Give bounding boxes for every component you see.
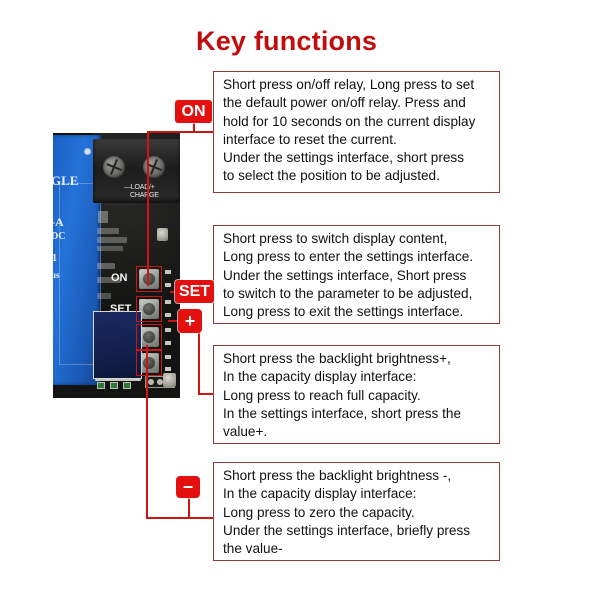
- callout-minus-text: Short press the backlight brightness -, …: [213, 462, 500, 561]
- silk-load-charge: —LOAD/+: [124, 184, 155, 191]
- green-component: [110, 382, 118, 389]
- highlight-plus: [136, 324, 162, 350]
- badge-set[interactable]: SET: [175, 280, 214, 303]
- lcd-display: [93, 311, 142, 379]
- solder-pad: [165, 367, 171, 371]
- green-component: [123, 382, 131, 389]
- capacitor-component: [157, 228, 168, 241]
- terminal-screw-left: [103, 156, 125, 178]
- solder-pad: [165, 355, 171, 359]
- screw-terminal-block: —LOAD/+ CHARGE: [93, 139, 180, 203]
- callout-plus-text: Short press the backlight brightness+, I…: [213, 345, 500, 444]
- silk-charge: CHARGE: [130, 192, 159, 199]
- solder-pad: [165, 270, 171, 274]
- silkscreen-block-1: [98, 211, 108, 223]
- green-component: [97, 382, 105, 389]
- solder-pad: [165, 313, 171, 317]
- leader-line-minus-bottom: [146, 517, 222, 519]
- highlight-on: [136, 266, 162, 292]
- solder-pad: [165, 300, 171, 304]
- leader-line-minus-vertical-left: [146, 345, 148, 519]
- badge-plus[interactable]: +: [178, 309, 202, 333]
- solder-pad: [165, 341, 171, 345]
- page-title: Key functions: [196, 26, 496, 57]
- callout-on-text: Short press on/off relay, Long press to …: [213, 71, 500, 193]
- board-label-on: ON: [111, 272, 128, 284]
- solder-pad: [165, 283, 171, 287]
- badge-minus[interactable]: −: [176, 476, 200, 498]
- relay-label-us: us: [53, 270, 60, 280]
- bottom-trace: [95, 379, 141, 381]
- silkscreen-block-5: [97, 263, 115, 269]
- key-functions-infographic: Key functions GLE -A DC 1 us —LOAD/+: [0, 0, 600, 600]
- silkscreen-block-2: [97, 228, 119, 234]
- relay-label-1: 1: [53, 253, 57, 264]
- relay-label-a: -A: [53, 215, 64, 230]
- silkscreen-block-4: [97, 246, 123, 251]
- silkscreen-block-7: [97, 293, 111, 299]
- leader-line-on-vertical-left: [147, 131, 149, 286]
- highlight-minus: [136, 350, 162, 376]
- silkscreen-block-3: [97, 237, 127, 243]
- relay-label-gle: GLE: [53, 173, 78, 189]
- solder-pad: [165, 328, 171, 332]
- lcd-screen-surface: [94, 312, 141, 378]
- header-pin: [148, 379, 154, 385]
- battery-capacity-meter-board: GLE -A DC 1 us —LOAD/+ CHARGE ON SET + −: [53, 133, 180, 398]
- highlight-set: [136, 296, 162, 322]
- mounting-hole: [84, 148, 91, 155]
- badge-on[interactable]: ON: [175, 100, 212, 123]
- relay-label-dc: DC: [53, 231, 65, 242]
- callout-set-text: Short press to switch display content, L…: [213, 225, 500, 324]
- led-component: [163, 373, 176, 387]
